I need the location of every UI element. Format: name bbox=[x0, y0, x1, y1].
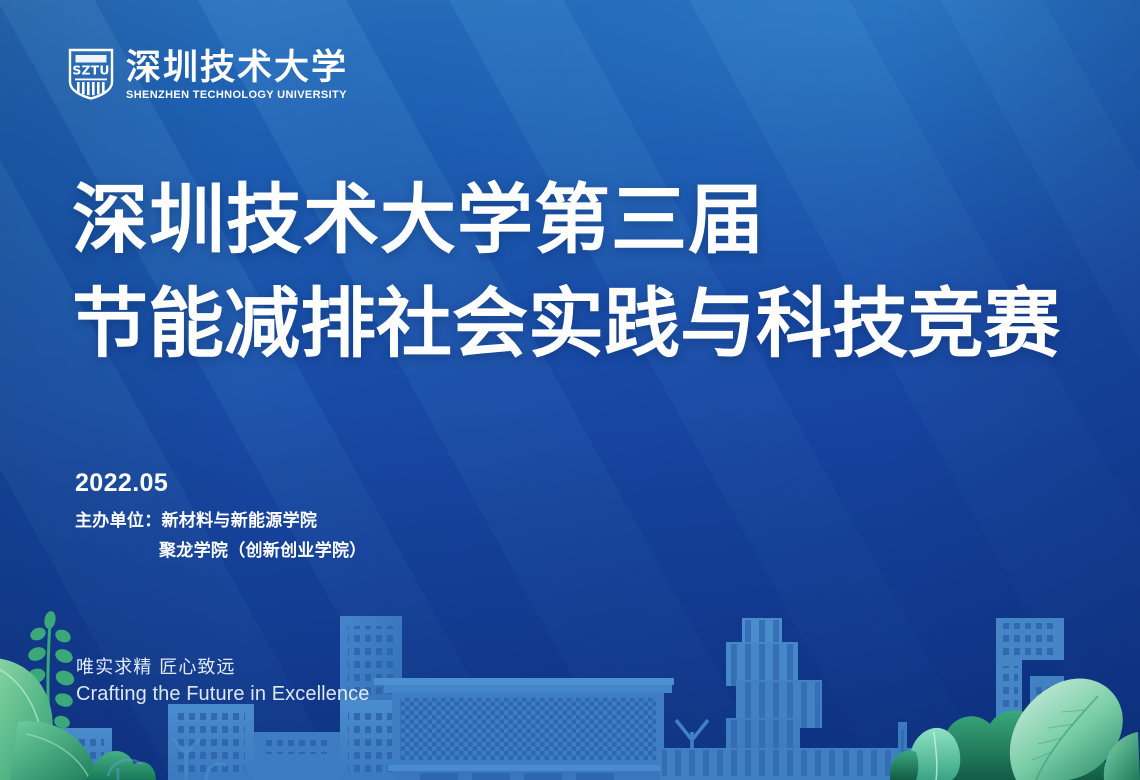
page-title: 深圳技术大学第三届 节能减排社会实践与科技竞赛 bbox=[72, 168, 1060, 376]
bush-left bbox=[86, 751, 156, 780]
poster-canvas: SZTU 深圳技术大学 SHENZHEN TECHNOLOGY UNIVERSI… bbox=[0, 0, 1140, 780]
bench-outline-left bbox=[108, 760, 142, 780]
building-left-grid bbox=[168, 704, 254, 780]
building-gate-center bbox=[374, 678, 674, 780]
building-left-low bbox=[16, 728, 112, 780]
building-connector-strip bbox=[254, 732, 340, 780]
tree-outline-left bbox=[172, 738, 226, 780]
university-slogan: 唯实求精 匠心致远 Crafting the Future in Excelle… bbox=[76, 656, 369, 707]
organizer-line-1: 新材料与新能源学院 bbox=[162, 511, 318, 531]
university-logo: SZTU 深圳技术大学 SHENZHEN TECHNOLOGY UNIVERSI… bbox=[68, 48, 350, 102]
fern-sprig bbox=[25, 610, 77, 776]
leaf-large-left bbox=[0, 658, 53, 780]
bush-front-right bbox=[890, 750, 918, 780]
leaf-large-right bbox=[1010, 679, 1123, 780]
organizer-label: 主办单位： bbox=[75, 511, 162, 531]
leaf-teal-right bbox=[909, 728, 960, 780]
leaf-edge-right bbox=[1104, 732, 1140, 780]
leaf-mid-left bbox=[10, 721, 98, 780]
shield-icon: SZTU bbox=[68, 48, 114, 100]
building-tower-left-base bbox=[340, 700, 444, 780]
event-date: 2022.05 bbox=[75, 468, 367, 499]
svg-text:SZTU: SZTU bbox=[72, 63, 109, 78]
title-line-2: 节能减排社会实践与科技竞赛 bbox=[72, 272, 1060, 376]
title-line-1: 深圳技术大学第三届 bbox=[72, 168, 1060, 272]
logo-name-cn: 深圳技术大学 bbox=[126, 49, 350, 87]
organizer-line-2: 聚龙学院（创新创业学院） bbox=[75, 536, 367, 566]
logo-name-en: SHENZHEN TECHNOLOGY UNIVERSITY bbox=[126, 89, 347, 102]
building-stepped-tower bbox=[660, 618, 952, 780]
tree-outline-center bbox=[676, 720, 708, 780]
leaf-foliage-right-illustration bbox=[890, 600, 1140, 780]
event-organizers: 主办单位：新材料与新能源学院 聚龙学院（创新创业学院） bbox=[75, 506, 367, 566]
slogan-en: Crafting the Future in Excellence bbox=[76, 681, 369, 707]
building-tower-right bbox=[996, 618, 1064, 780]
building-mast-right bbox=[898, 722, 907, 780]
event-meta: 2022.05 主办单位：新材料与新能源学院 聚龙学院（创新创业学院） bbox=[75, 468, 367, 566]
slogan-cn: 唯实求精 匠心致远 bbox=[76, 656, 369, 680]
building-mast-left bbox=[450, 688, 458, 780]
logo-wordmark: 深圳技术大学 SHENZHEN TECHNOLOGY UNIVERSITY bbox=[126, 49, 350, 102]
bush-dark-right bbox=[916, 710, 1108, 780]
